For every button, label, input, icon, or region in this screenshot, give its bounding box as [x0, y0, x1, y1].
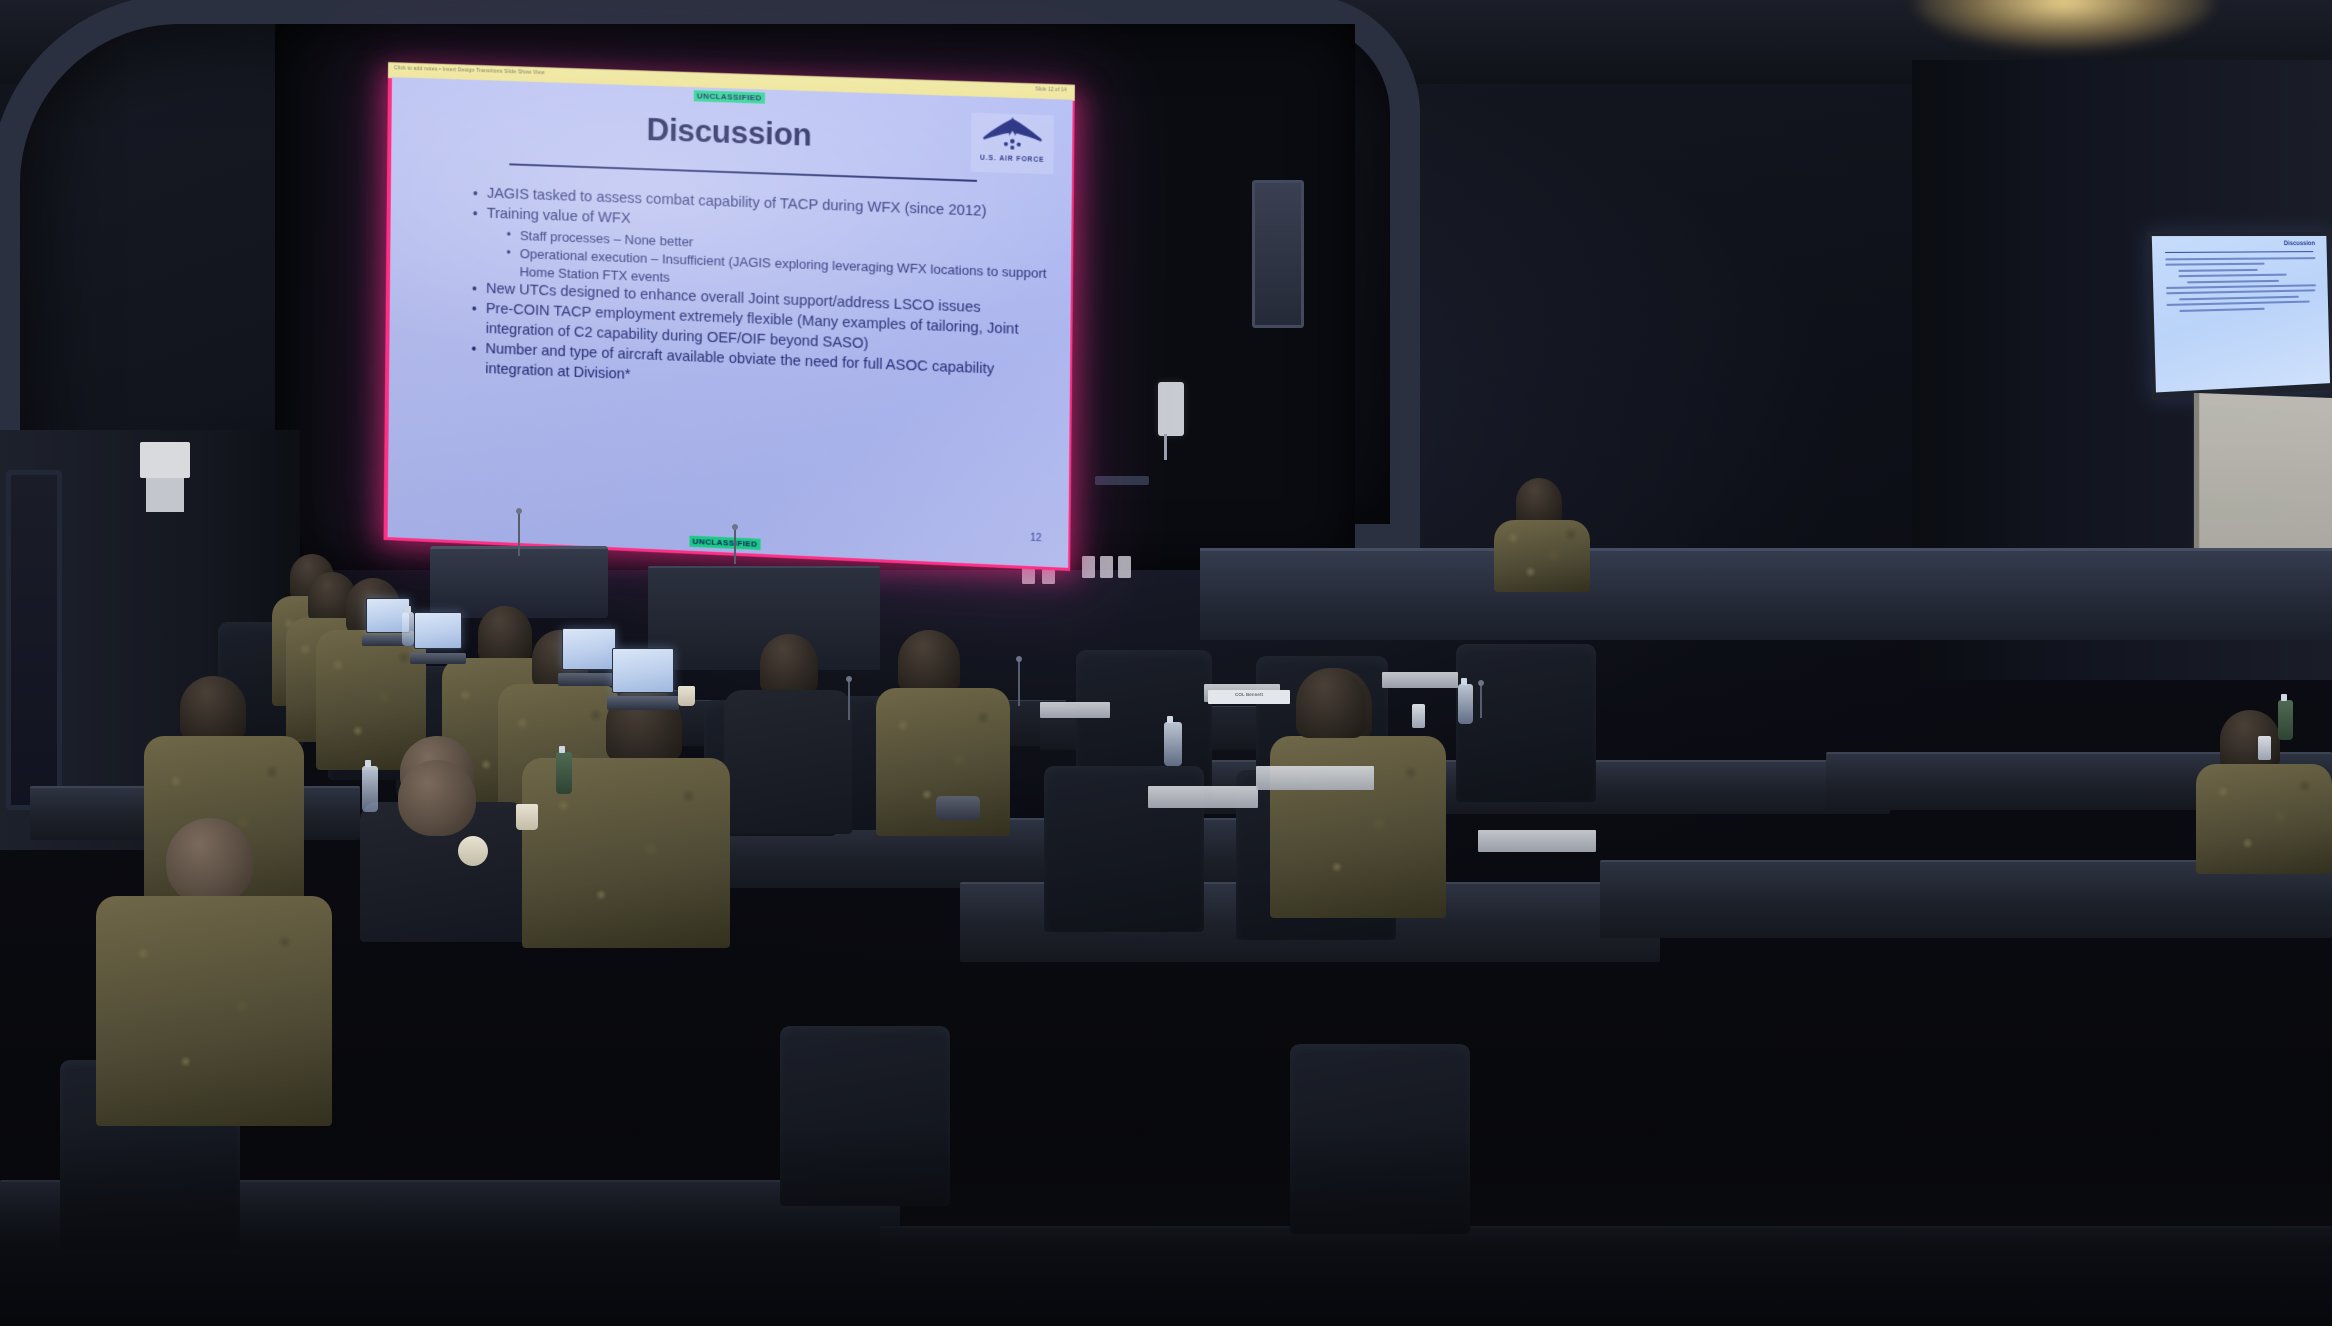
torso: [522, 758, 730, 948]
water-bottle: [1458, 684, 1473, 724]
water-bottle: [556, 752, 572, 794]
monitor-slide-title: Discussion: [2158, 241, 2320, 248]
torso: [1494, 520, 1590, 592]
monitor-text-line: [2178, 269, 2257, 272]
head: [398, 760, 476, 836]
microphone[interactable]: [1480, 684, 1482, 718]
laptop-screen: [414, 612, 462, 649]
monitor-text-line: [2166, 284, 2316, 289]
classification-banner-bottom: UNCLASSIFIED: [689, 536, 760, 550]
wall-outlet: [1118, 556, 1131, 578]
monitor-title-divider: [2165, 251, 2313, 253]
paper-sheet: [1148, 786, 1258, 808]
torso: [1270, 736, 1446, 918]
laptop[interactable]: [414, 612, 462, 664]
rear-table-rail: [1200, 548, 2332, 640]
title-divider: [509, 163, 977, 182]
monitor-text-line: [2179, 307, 2265, 311]
bullet-marker-icon: •: [473, 205, 478, 225]
head: [166, 818, 254, 904]
monitor-text-line: [2165, 257, 2315, 260]
powerpoint-toolbar-right-text: Slide 12 of 14: [1035, 84, 1067, 95]
us-air-force-logo: U.S. AIR FORCE: [971, 113, 1054, 175]
head: [478, 606, 532, 662]
laptop-screen: [562, 628, 616, 670]
bullet-marker-icon: •: [506, 245, 511, 280]
laptop-screen: [612, 648, 674, 693]
wall-outlet: [1082, 556, 1095, 578]
slide-number: 12: [1030, 533, 1042, 545]
head: [1516, 478, 1562, 526]
beverage-can: [1412, 704, 1425, 728]
slide-frame: Click to add notes • Insert Design Trans…: [384, 74, 1075, 571]
bullet-marker-icon: •: [471, 340, 476, 379]
nameplate: COL Bennett: [1208, 690, 1290, 704]
confidence-monitor[interactable]: Discussion: [2147, 232, 2332, 400]
beverage-can: [2258, 736, 2271, 760]
slide-bullet-list: • JAGIS tasked to assess combat capabili…: [427, 183, 1053, 404]
wall-box-stem: [146, 478, 184, 512]
remote-control[interactable]: [936, 796, 980, 820]
monitor-text-line: [2178, 274, 2286, 278]
water-bottle: [1164, 722, 1182, 766]
paper-sheet: [1040, 702, 1110, 718]
podium: [430, 546, 608, 618]
ceiling-projector: [1095, 476, 1149, 485]
wall-mounted-box: [140, 442, 190, 478]
confidence-monitor-screen: Discussion: [2152, 236, 2330, 392]
head: [760, 634, 818, 694]
wall-vent: [1252, 180, 1304, 328]
head: [1296, 668, 1366, 738]
monitor-text-line: [2166, 290, 2315, 295]
bullet-marker-icon: •: [507, 226, 511, 244]
laptop[interactable]: [562, 628, 616, 686]
wall-phone[interactable]: [1158, 382, 1184, 436]
paper-sheet: [1478, 830, 1596, 852]
head: [2220, 710, 2280, 770]
bullet-marker-icon: •: [473, 184, 478, 204]
wall-outlet: [1100, 556, 1113, 578]
briefing-room: Click to add notes • Insert Design Trans…: [0, 0, 2332, 1326]
head: [898, 630, 960, 692]
monitor-text-line: [2179, 295, 2299, 300]
torso: [96, 896, 332, 1126]
microphone[interactable]: [848, 680, 850, 720]
laptop-base: [410, 653, 466, 664]
slide-canvas[interactable]: UNCLASSIFIED Discussion U.S. AIR FORCE: [388, 77, 1073, 568]
monitor-text-line: [2166, 301, 2309, 306]
nameplate-blank: [1382, 672, 1458, 688]
laptop[interactable]: [612, 648, 674, 710]
chair: [1456, 644, 1596, 802]
bullet-marker-icon: •: [472, 300, 477, 339]
coffee-cup: [458, 836, 488, 866]
paper-sheet: [1256, 766, 1374, 790]
projection-screen[interactable]: Click to add notes • Insert Design Trans…: [388, 74, 1064, 540]
torso: [724, 690, 852, 834]
laptop-base: [558, 673, 621, 686]
microphone[interactable]: [1018, 660, 1020, 706]
laptop-base: [607, 696, 679, 710]
microphone[interactable]: [518, 512, 520, 556]
water-bottle: [2278, 700, 2293, 740]
floor-shadow: [0, 1126, 2332, 1326]
microphone[interactable]: [734, 528, 736, 564]
bullet-marker-icon: •: [472, 279, 477, 299]
water-bottle: [362, 766, 378, 812]
torso: [2196, 764, 2332, 874]
monitor-text-line: [2165, 263, 2264, 266]
head: [180, 676, 246, 740]
coffee-cup: [678, 686, 695, 706]
monitor-text-line: [2187, 279, 2278, 283]
air-force-logo-caption: U.S. AIR FORCE: [980, 155, 1045, 164]
water-bottle: [402, 612, 414, 646]
coffee-cup: [516, 804, 538, 830]
classification-banner-top: UNCLASSIFIED: [694, 90, 765, 103]
air-force-wings-icon: [980, 113, 1044, 156]
left-wall-panel: [6, 470, 62, 810]
